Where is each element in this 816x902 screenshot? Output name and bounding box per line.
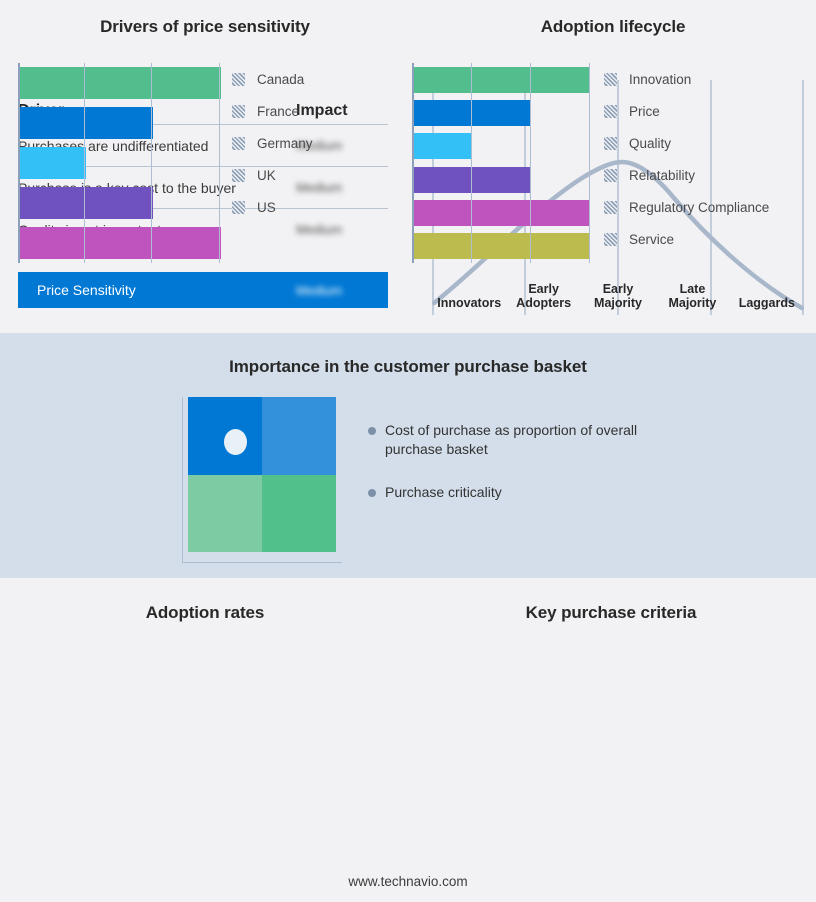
drivers-panel-title: Drivers of price sensitivity bbox=[0, 17, 410, 37]
legend-label: Regulatory Compliance bbox=[629, 200, 769, 215]
stage-line1: Late bbox=[680, 282, 706, 296]
legend-label: Cost of purchase as proportion of overal… bbox=[385, 421, 645, 459]
stage-line2: Majority bbox=[668, 296, 716, 310]
lifecycle-stage-late-majority: Late Majority bbox=[655, 268, 729, 312]
bar-slot bbox=[412, 130, 590, 163]
legend-item: Cost of purchase as proportion of overal… bbox=[368, 421, 698, 459]
legend-item-innovation: Innovation bbox=[604, 63, 769, 95]
price-sensitivity-highlight-row: Price Sensitivity Medium bbox=[18, 272, 388, 308]
gridline-3 bbox=[589, 63, 590, 263]
legend-item-france: France bbox=[232, 95, 313, 127]
key-purchase-criteria-plot-area bbox=[412, 63, 590, 263]
legend-label: Purchase criticality bbox=[385, 483, 502, 502]
adoption-rates-chart bbox=[18, 63, 221, 263]
gridline-2 bbox=[530, 63, 531, 263]
lifecycle-stage-early-adopters: Early Adopters bbox=[506, 268, 580, 312]
legend-swatch-icon bbox=[604, 169, 617, 182]
adoption-rates-legend: Canada France Germany UK US bbox=[232, 63, 313, 223]
adoption-rates-panel: Adoption rates bbox=[0, 578, 410, 902]
stage-line1: Early bbox=[528, 282, 559, 296]
bullet-dot-icon bbox=[368, 427, 376, 435]
legend-label: France bbox=[257, 104, 299, 119]
stage-line1: Early bbox=[603, 282, 634, 296]
highlight-row-label: Price Sensitivity bbox=[37, 282, 296, 298]
legend-item: Purchase criticality bbox=[368, 483, 698, 502]
legend-label: US bbox=[257, 200, 276, 215]
bar-innovation bbox=[412, 67, 590, 93]
purchase-basket-panel: Importance in the customer purchase bask… bbox=[0, 333, 816, 578]
adoption-rates-plot-area bbox=[18, 63, 221, 263]
bar-regulatory-compliance bbox=[412, 200, 590, 226]
gridline-2 bbox=[151, 63, 152, 263]
gridline-3 bbox=[219, 63, 220, 263]
legend-swatch-icon bbox=[232, 73, 245, 86]
lifecycle-panel-title: Adoption lifecycle bbox=[410, 17, 816, 37]
key-purchase-criteria-bars bbox=[412, 63, 590, 263]
stage-line2: Adopters bbox=[516, 296, 571, 310]
legend-item-germany: Germany bbox=[232, 127, 313, 159]
lifecycle-stage-innovators: Innovators bbox=[432, 268, 506, 312]
key-purchase-criteria-chart bbox=[412, 63, 590, 263]
legend-item-canada: Canada bbox=[232, 63, 313, 95]
bar-service bbox=[412, 233, 590, 259]
adoption-rates-bars bbox=[18, 63, 221, 263]
bar-slot bbox=[18, 143, 221, 183]
legend-swatch-icon bbox=[604, 137, 617, 150]
legend-label: Service bbox=[629, 232, 674, 247]
legend-label: Canada bbox=[257, 72, 304, 87]
legend-swatch-icon bbox=[232, 201, 245, 214]
gridline-1 bbox=[84, 63, 85, 263]
legend-swatch-icon bbox=[604, 233, 617, 246]
legend-label: Price bbox=[629, 104, 660, 119]
lifecycle-stage-labels: Innovators Early Adopters Early Majority… bbox=[432, 268, 804, 312]
bar-slot bbox=[412, 163, 590, 196]
quadrant-top-right bbox=[262, 397, 336, 475]
bar-canada bbox=[18, 67, 221, 98]
quadrant-x-axis bbox=[182, 562, 342, 563]
legend-label: Germany bbox=[257, 136, 313, 151]
quadrant-y-axis bbox=[182, 397, 183, 563]
position-marker-icon bbox=[224, 429, 247, 455]
highlight-row-impact-blurred: Medium bbox=[296, 283, 388, 298]
impact-value-blurred: Medium bbox=[296, 222, 388, 237]
bar-slot bbox=[412, 230, 590, 263]
quadrant-bottom-right bbox=[262, 475, 336, 553]
quadrant-grid bbox=[188, 397, 336, 552]
legend-swatch-icon bbox=[604, 105, 617, 118]
gridline-1 bbox=[471, 63, 472, 263]
legend-swatch-icon bbox=[232, 137, 245, 150]
legend-item-price: Price bbox=[604, 95, 769, 127]
y-axis bbox=[412, 63, 414, 263]
key-purchase-criteria-panel: Key purchase criteria bbox=[406, 578, 816, 902]
bar-slot bbox=[18, 183, 221, 223]
legend-swatch-icon bbox=[604, 73, 617, 86]
bar-slot bbox=[18, 63, 221, 103]
quadrant-matrix-chart bbox=[182, 397, 342, 563]
bar-slot bbox=[412, 63, 590, 96]
key-purchase-criteria-legend: Innovation Price Quality Relatability Re… bbox=[604, 63, 769, 255]
basket-panel-title: Importance in the customer purchase bask… bbox=[0, 357, 816, 377]
stage-line2: Majority bbox=[594, 296, 642, 310]
bar-quality bbox=[412, 133, 471, 159]
legend-swatch-icon bbox=[604, 201, 617, 214]
bullet-dot-icon bbox=[368, 489, 376, 497]
bar-slot bbox=[18, 223, 221, 263]
bar-us bbox=[18, 227, 221, 258]
legend-swatch-icon bbox=[232, 169, 245, 182]
legend-item-regulatory-compliance: Regulatory Compliance bbox=[604, 191, 769, 223]
legend-item-us: US bbox=[232, 191, 313, 223]
stage-line2: Laggards bbox=[739, 296, 795, 310]
key-purchase-criteria-title: Key purchase criteria bbox=[406, 603, 816, 623]
bar-germany bbox=[18, 147, 86, 178]
legend-item-quality: Quality bbox=[604, 127, 769, 159]
legend-item-service: Service bbox=[604, 223, 769, 255]
lifecycle-stage-laggards: Laggards bbox=[730, 268, 804, 312]
legend-label: UK bbox=[257, 168, 276, 183]
basket-legend: Cost of purchase as proportion of overal… bbox=[368, 421, 698, 526]
footer-website-url: www.technavio.com bbox=[0, 874, 816, 889]
quadrant-bottom-left bbox=[188, 475, 262, 553]
bar-slot bbox=[412, 196, 590, 229]
stage-line2: Innovators bbox=[437, 296, 501, 310]
bar-france bbox=[18, 107, 153, 138]
legend-label: Relatability bbox=[629, 168, 695, 183]
bar-slot bbox=[18, 103, 221, 143]
legend-swatch-icon bbox=[232, 105, 245, 118]
adoption-rates-title: Adoption rates bbox=[0, 603, 410, 623]
lifecycle-stage-early-majority: Early Majority bbox=[581, 268, 655, 312]
legend-label: Quality bbox=[629, 136, 671, 151]
legend-label: Innovation bbox=[629, 72, 691, 87]
bar-slot bbox=[412, 96, 590, 129]
bar-uk bbox=[18, 187, 153, 218]
y-axis bbox=[18, 63, 20, 263]
legend-item-relatability: Relatability bbox=[604, 159, 769, 191]
legend-item-uk: UK bbox=[232, 159, 313, 191]
